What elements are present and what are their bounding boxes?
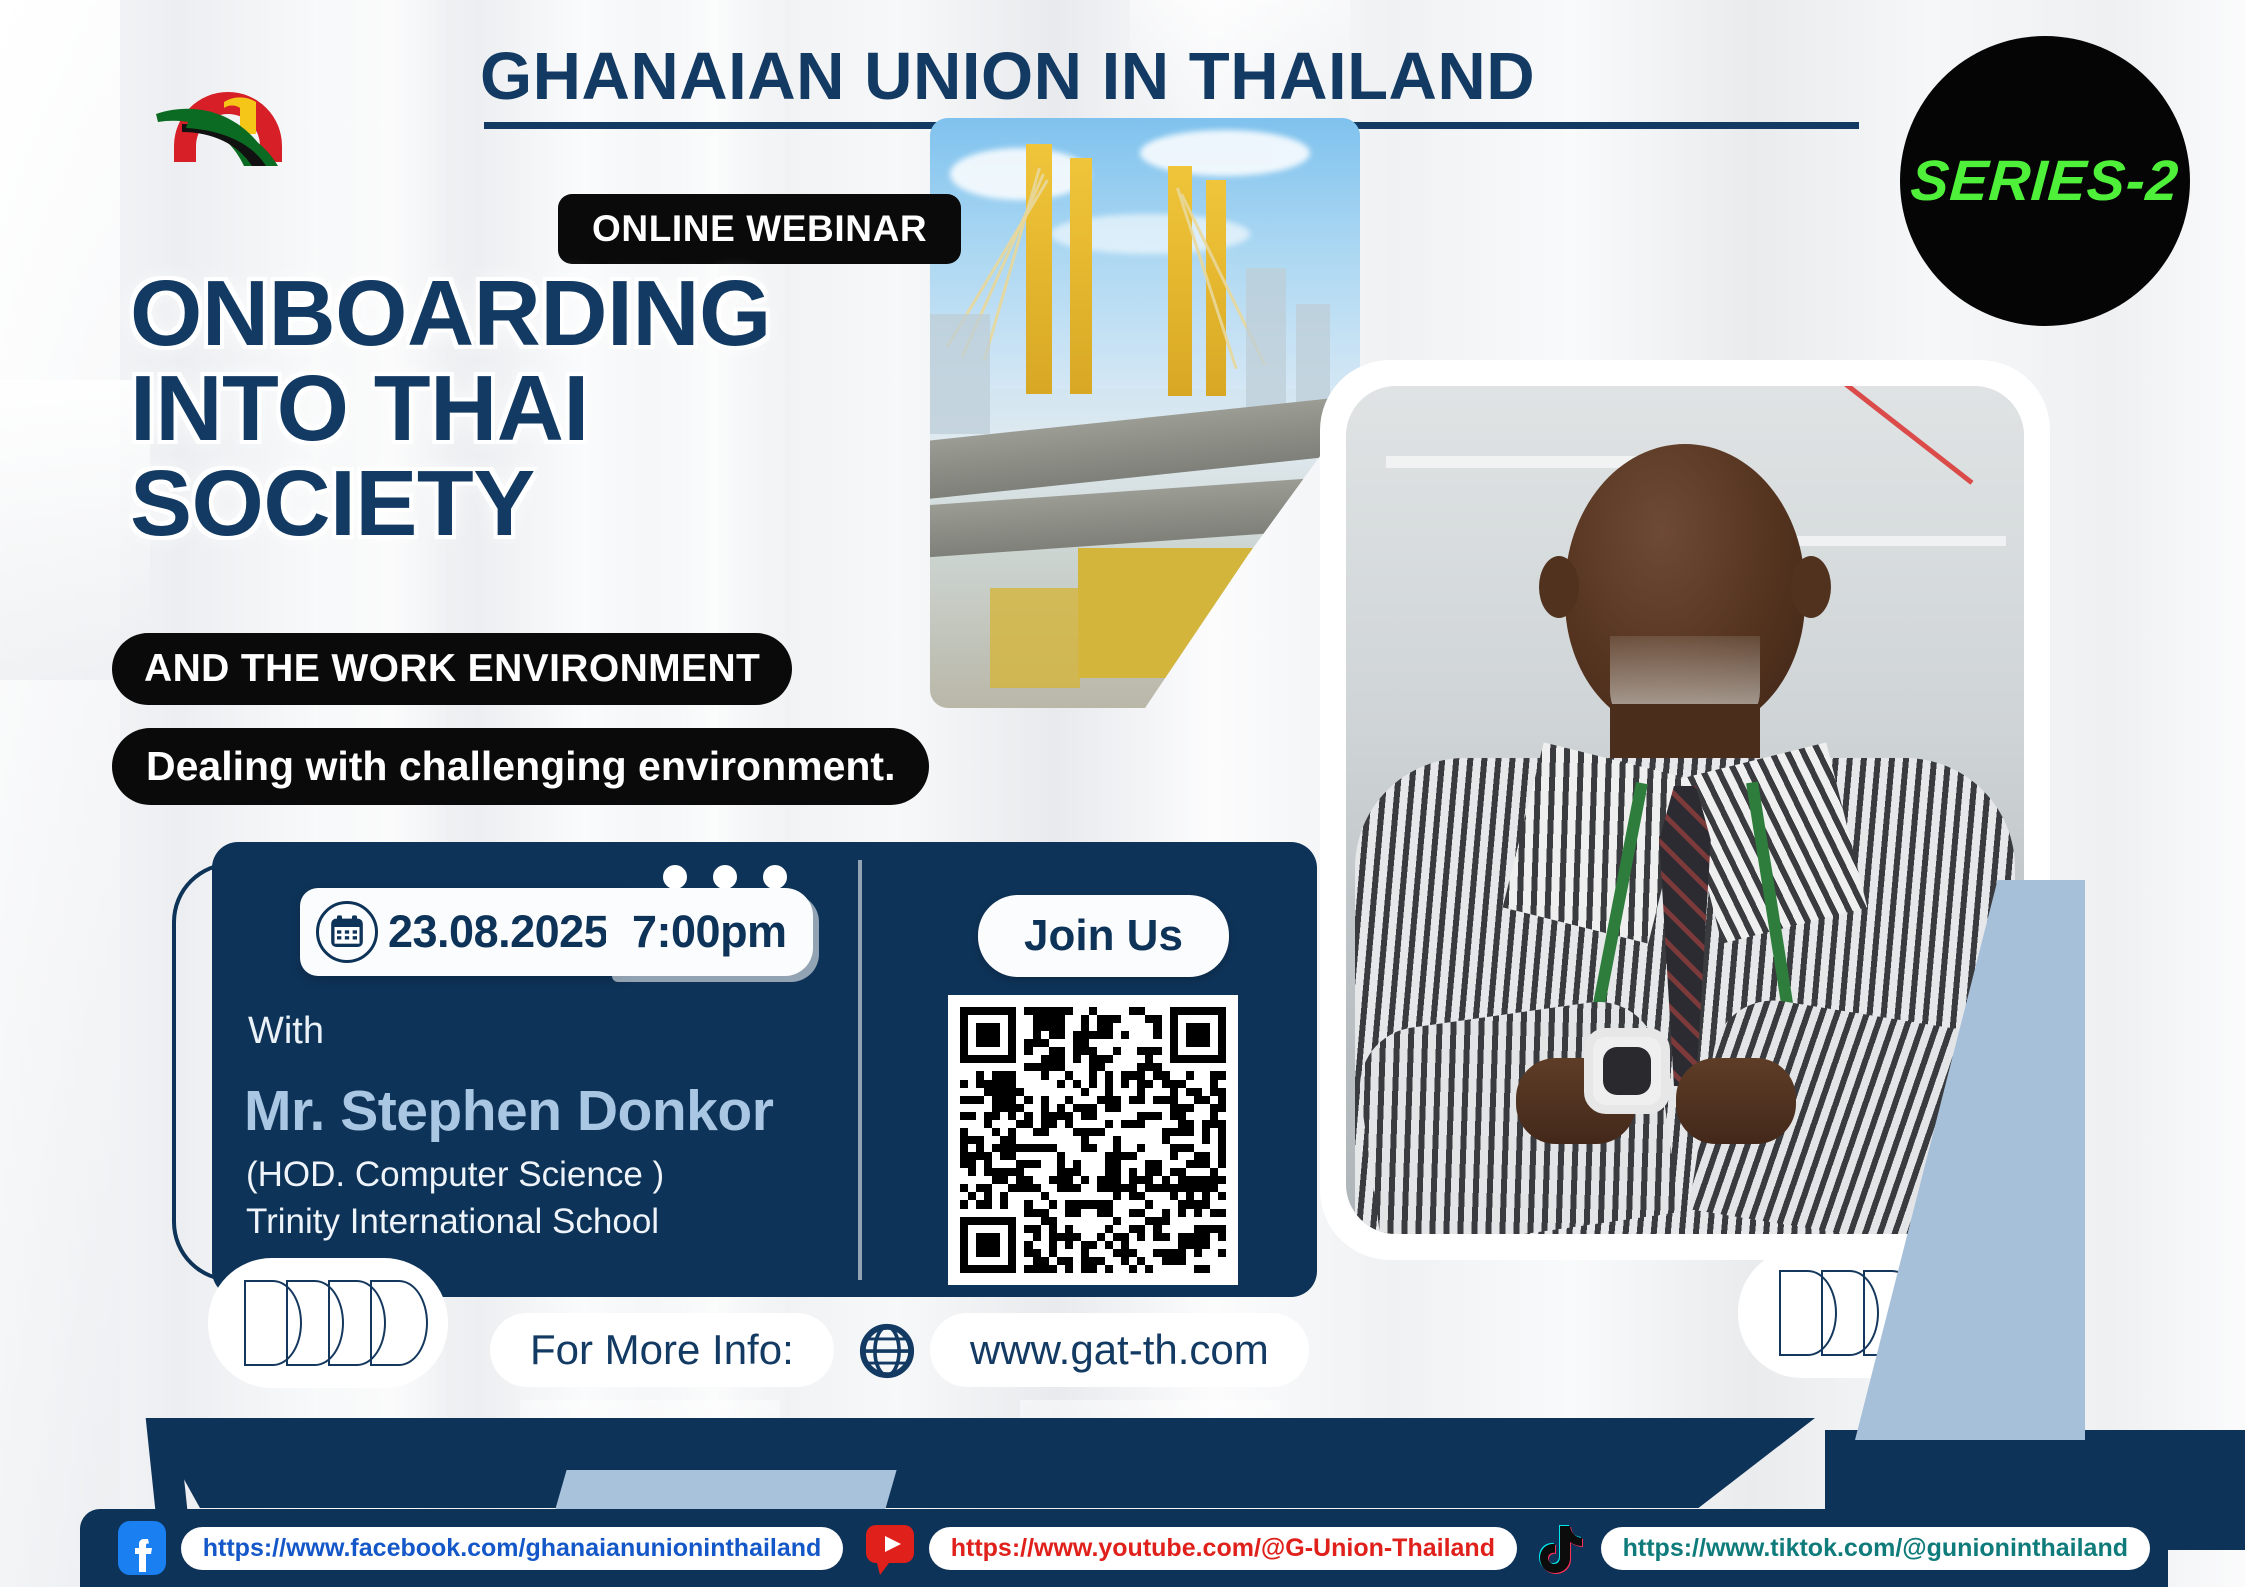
online-webinar-tag: ONLINE WEBINAR xyxy=(558,194,961,264)
qr-grid xyxy=(960,1007,1226,1273)
city-building xyxy=(1246,268,1286,408)
city-building xyxy=(1296,304,1330,414)
join-us-qr-code[interactable] xyxy=(948,995,1238,1285)
social-link-facebook[interactable]: https://www.facebook.com/ghanaianunionin… xyxy=(115,1519,844,1577)
speaker-name: Mr. Stephen Donkor xyxy=(244,1078,773,1144)
social-links-bar: https://www.facebook.com/ghanaianunionin… xyxy=(80,1509,2168,1587)
tiktok-url[interactable]: https://www.tiktok.com/@gunioninthailand xyxy=(1601,1527,2150,1570)
series-badge: SERIES-2 xyxy=(1900,36,2190,326)
cloud xyxy=(950,148,1090,200)
event-time-chip: 7:00pm xyxy=(606,888,813,976)
arc-shape xyxy=(370,1280,428,1366)
speaker-ear xyxy=(1539,556,1579,618)
youtube-icon xyxy=(863,1519,917,1577)
subtitle-work-environment: AND THE WORK ENVIRONMENT xyxy=(112,633,792,705)
background-tile xyxy=(0,0,120,1587)
globe-icon xyxy=(858,1322,916,1380)
with-label: With xyxy=(248,1010,324,1053)
event-date: 23.08.2025 xyxy=(388,906,608,958)
speaker-ear xyxy=(1791,556,1831,618)
facebook-icon xyxy=(115,1519,169,1577)
subtitle-dealing-with: Dealing with challenging environment. xyxy=(112,728,929,805)
ghanaian-union-logo xyxy=(148,42,308,170)
headline: ONBOARDING INTO THAI SOCIETY xyxy=(130,266,771,551)
monitor-frame xyxy=(150,1418,1815,1508)
tiktok-icon xyxy=(1535,1519,1589,1577)
yellow-building xyxy=(990,588,1080,688)
event-date-chip: 23.08.2025 xyxy=(300,888,626,976)
cloud xyxy=(1140,130,1310,176)
wristwatch xyxy=(1584,1028,1670,1114)
youtube-url[interactable]: https://www.youtube.com/@G-Union-Thailan… xyxy=(929,1527,1517,1570)
speaker-portrait-photo xyxy=(1346,386,2024,1234)
page-title: GHANAIAN UNION IN THAILAND xyxy=(480,38,1860,115)
join-us-button[interactable]: Join Us xyxy=(978,895,1229,977)
website-url[interactable]: www.gat-th.com xyxy=(930,1313,1309,1387)
city-building xyxy=(930,314,990,434)
decoration-arcs-left xyxy=(208,1258,448,1388)
social-link-tiktok[interactable]: https://www.tiktok.com/@gunioninthailand xyxy=(1535,1519,2150,1577)
series-badge-label: SERIES-2 xyxy=(1909,148,2181,214)
facebook-url[interactable]: https://www.facebook.com/ghanaianunionin… xyxy=(181,1527,844,1570)
social-link-youtube[interactable]: https://www.youtube.com/@G-Union-Thailan… xyxy=(863,1519,1517,1577)
more-info-label: For More Info: xyxy=(490,1313,834,1387)
speaker-role: (HOD. Computer Science ) xyxy=(246,1155,664,1195)
calendar-icon xyxy=(316,901,378,963)
event-time: 7:00pm xyxy=(632,906,787,958)
watch-face xyxy=(1603,1047,1651,1095)
card-divider xyxy=(858,860,862,1280)
background-tile xyxy=(0,380,150,680)
webinar-flyer: GHANAIAN UNION IN THAILAND SERIES-2 xyxy=(0,0,2245,1587)
bridge-pylon xyxy=(1070,158,1092,394)
speaker-organization: Trinity International School xyxy=(246,1202,659,1242)
speaker-hand-left xyxy=(1676,1058,1796,1144)
